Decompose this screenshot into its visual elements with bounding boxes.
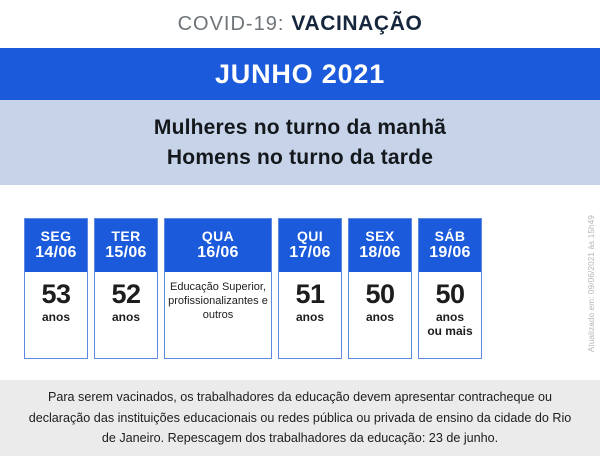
day-card-body: 51anos — [279, 272, 341, 358]
age-unit-label: anos — [112, 311, 140, 325]
age-value: 50 — [435, 281, 464, 308]
day-card-header: SEX18/06 — [349, 219, 411, 272]
day-date-label: 18/06 — [359, 245, 401, 262]
day-date-label: 19/06 — [429, 245, 471, 262]
day-card-body: 50anosou mais — [419, 272, 481, 358]
day-card-header: SEG14/06 — [25, 219, 87, 272]
day-card-header: QUA16/06 — [165, 219, 271, 272]
updated-stamp-text: Atualizado em: 09/06/2021 às 15h49 — [587, 215, 596, 352]
month-label: JUNHO 2021 — [215, 59, 385, 90]
day-card-body: 52anos — [95, 272, 157, 358]
day-date-label: 14/06 — [35, 245, 77, 262]
shift-notice-line-1: Mulheres no turno da manhã — [154, 116, 446, 140]
age-value: 52 — [111, 281, 140, 308]
poster-title: COVID-19: VACINAÇÃO — [178, 12, 423, 36]
day-card-note: Educação Superior, profissionalizantes e… — [165, 281, 271, 323]
day-card-ter: TER15/0652anos — [94, 218, 158, 359]
schedule-cards-area: SEG14/0653anosTER15/0652anosQUA16/06Educ… — [0, 185, 600, 380]
title-prefix: COVID-19: — [178, 13, 285, 36]
day-date-label: 15/06 — [105, 245, 147, 262]
day-date-label: 16/06 — [197, 245, 239, 262]
day-of-week-label: SÁB — [435, 229, 466, 244]
day-card-header: SÁB19/06 — [419, 219, 481, 272]
day-card-sex: SEX18/0650anos — [348, 218, 412, 359]
age-unit-label: anos — [296, 311, 324, 325]
age-value: 50 — [365, 281, 394, 308]
title-emphasis: VACINAÇÃO — [291, 12, 422, 36]
shift-notice-band: Mulheres no turno da manhã Homens no tur… — [0, 100, 600, 185]
shift-notice-line-2: Homens no turno da tarde — [167, 146, 433, 170]
age-value: 53 — [41, 281, 70, 308]
day-of-week-label: QUA — [202, 229, 234, 244]
footer-note: Para serem vacinados, os trabalhadores d… — [20, 387, 580, 448]
day-of-week-label: SEG — [41, 229, 72, 244]
day-card-header: TER15/06 — [95, 219, 157, 272]
day-of-week-label: QUI — [297, 229, 323, 244]
day-of-week-label: SEX — [365, 229, 394, 244]
day-card-qua: QUA16/06Educação Superior, profissionali… — [164, 218, 272, 359]
schedule-cards-row: SEG14/0653anosTER15/0652anosQUA16/06Educ… — [24, 218, 568, 359]
age-unit-label: anosou mais — [427, 311, 472, 339]
day-card-seg: SEG14/0653anos — [24, 218, 88, 359]
poster-title-bar: COVID-19: VACINAÇÃO — [0, 0, 600, 48]
updated-stamp: Atualizado em: 09/06/2021 às 15h49 — [583, 193, 599, 375]
age-value: 51 — [295, 281, 324, 308]
day-of-week-label: TER — [111, 229, 140, 244]
day-card-sáb: SÁB19/0650anosou mais — [418, 218, 482, 359]
age-unit-label: anos — [42, 311, 70, 325]
day-card-qui: QUI17/0651anos — [278, 218, 342, 359]
day-card-body: Educação Superior, profissionalizantes e… — [165, 272, 271, 358]
day-card-header: QUI17/06 — [279, 219, 341, 272]
day-date-label: 17/06 — [289, 245, 331, 262]
month-band: JUNHO 2021 — [0, 48, 600, 100]
day-card-body: 53anos — [25, 272, 87, 358]
age-unit-label: anos — [366, 311, 394, 325]
day-card-body: 50anos — [349, 272, 411, 358]
vaccination-schedule-poster: COVID-19: VACINAÇÃO JUNHO 2021 Mulheres … — [0, 0, 600, 456]
footer-band: Para serem vacinados, os trabalhadores d… — [0, 380, 600, 456]
